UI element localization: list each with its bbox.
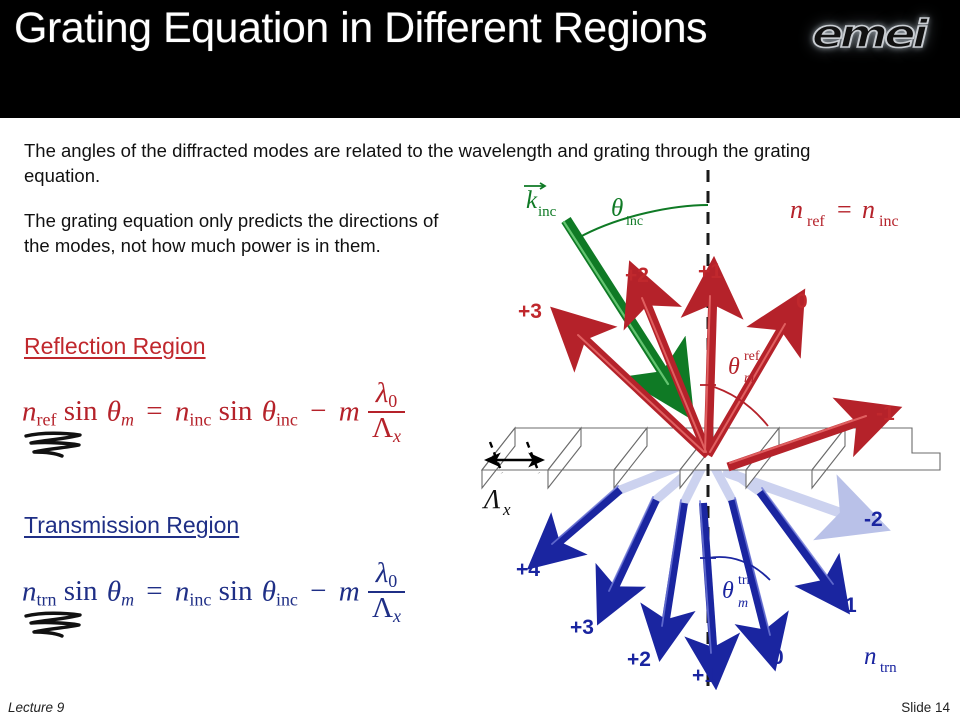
eq-trn-n-inc-sub: inc	[189, 589, 211, 609]
eq-ref-sin1: sin	[64, 395, 100, 427]
mode-label-reflected-0: 0	[796, 290, 808, 313]
theta-inc-symbol: θ	[611, 195, 623, 222]
theta-ref-symbol: θ	[728, 354, 740, 380]
eq-ref-lambda: λ	[376, 377, 389, 409]
mode-label-transmitted-minus1: -1	[838, 594, 857, 617]
incident-vector-label: k inc	[524, 183, 557, 220]
eq-trn-n-trn: n	[22, 575, 37, 607]
transmitted-beam-0	[732, 500, 768, 642]
eq-trn-n-inc: n	[175, 575, 190, 607]
mode-label-transmitted-plus1: +1	[692, 664, 716, 687]
eq-trn-theta-inc: θ	[262, 575, 276, 607]
mode-label-transmitted-0: 0	[772, 646, 784, 669]
slide-header: Grating Equation in Different Regions em…	[0, 0, 960, 118]
eq-trn-theta-inc-sub: inc	[276, 589, 298, 609]
mode-label-reflected-plus2: +2	[625, 264, 649, 287]
index-relation-sub1: ref	[807, 213, 825, 230]
eq-ref-lambda-sub: 0	[388, 391, 397, 411]
intro-paragraph-2: The grating equation only predicts the d…	[24, 208, 454, 258]
eq-trn-lambda-sub: 0	[388, 571, 397, 591]
incident-beam-highlight	[564, 222, 668, 384]
index-relation-n2: n	[862, 195, 875, 224]
mode-label-transmitted-plus4: +4	[516, 558, 540, 581]
k-inc-symbol: k	[526, 187, 538, 214]
eq-ref-fraction: λ0 Λx	[368, 378, 405, 445]
eq-trn-theta-m: θ	[107, 575, 121, 607]
brand-logo: emei	[794, 10, 942, 58]
eq-ref-n-ref: n	[22, 395, 37, 427]
mode-label-transmitted-minus2: -2	[864, 508, 883, 531]
eq-ref-minus: −	[305, 395, 331, 427]
n-trn-sub: trn	[880, 660, 897, 676]
eq-ref-n-inc: n	[175, 395, 190, 427]
eq-ref-sin2: sin	[219, 395, 255, 427]
transmission-annotation-scribble	[22, 605, 94, 639]
transmitted-beam-plus3	[610, 500, 656, 598]
n-trn-label: n trn	[864, 643, 897, 676]
eq-trn-period-sub: x	[393, 606, 401, 626]
eq-trn-equals: =	[141, 575, 167, 607]
index-relation-equals: =	[837, 195, 852, 224]
footer-lecture-label: Lecture 9	[8, 700, 64, 715]
theta-ref-sup: ref	[744, 349, 760, 364]
brand-logo-text: emei	[812, 12, 924, 56]
mode-label-transmitted-plus2: +2	[627, 648, 651, 671]
index-relation-label: n ref = n inc	[790, 195, 899, 230]
theta-inc-sub: inc	[626, 214, 643, 229]
eq-ref-theta-m: θ	[107, 395, 121, 427]
page-title: Grating Equation in Different Regions	[14, 4, 714, 53]
eq-trn-period: Λ	[372, 592, 393, 624]
eq-trn-theta-m-sub: m	[121, 589, 134, 609]
reflection-annotation-scribble	[22, 425, 94, 459]
eq-ref-period-sub: x	[393, 426, 401, 446]
eq-ref-n-inc-sub: inc	[189, 409, 211, 429]
theta-trn-sub: m	[738, 596, 748, 611]
index-relation-sub2: inc	[879, 213, 899, 230]
theta-inc-label: θ inc	[611, 195, 643, 229]
eq-trn-lambda: λ	[376, 557, 389, 589]
eq-trn-fraction: λ0 Λx	[368, 558, 405, 625]
eq-ref-theta-m-sub: m	[121, 409, 134, 429]
mode-label-reflected-plus1: +1	[698, 260, 722, 283]
eq-trn-sin1: sin	[64, 575, 100, 607]
n-trn-symbol: n	[864, 643, 877, 670]
mode-label-reflected-minus1: -1	[876, 402, 895, 425]
mode-label-reflected-plus3: +3	[518, 300, 542, 323]
eq-trn-minus: −	[305, 575, 331, 607]
eq-ref-theta-inc: θ	[262, 395, 276, 427]
grating-diffraction-diagram: Λ x k inc θ inc n ref = n inc	[470, 170, 960, 690]
theta-ref-sub: m	[744, 371, 754, 386]
eq-trn-sin2: sin	[219, 575, 255, 607]
transmitted-beam-plus2	[664, 503, 684, 632]
transmitted-beam-plus1	[703, 503, 714, 660]
footer-slide-number: Slide 14	[901, 700, 950, 715]
k-inc-sub: inc	[538, 204, 557, 220]
index-relation-n1: n	[790, 195, 803, 224]
incident-beam-shaft	[566, 220, 672, 386]
eq-ref-theta-inc-sub: inc	[276, 409, 298, 429]
eq-trn-m: m	[339, 575, 360, 607]
period-label-sub: x	[502, 500, 511, 519]
transmitted-beam-plus4	[550, 490, 620, 550]
period-label: Λ	[481, 484, 501, 514]
mode-label-transmitted-plus3: +3	[570, 616, 594, 639]
eq-ref-equals: =	[141, 395, 167, 427]
incident-beam	[564, 220, 672, 386]
transmission-region-heading: Transmission Region	[24, 512, 239, 539]
theta-trn-sup: trn	[738, 573, 754, 588]
eq-ref-period: Λ	[372, 412, 393, 444]
reflection-region-heading: Reflection Region	[24, 333, 206, 360]
theta-trn-label: θ trn m	[722, 573, 754, 611]
eq-ref-m: m	[339, 395, 360, 427]
theta-trn-symbol: θ	[722, 578, 734, 604]
